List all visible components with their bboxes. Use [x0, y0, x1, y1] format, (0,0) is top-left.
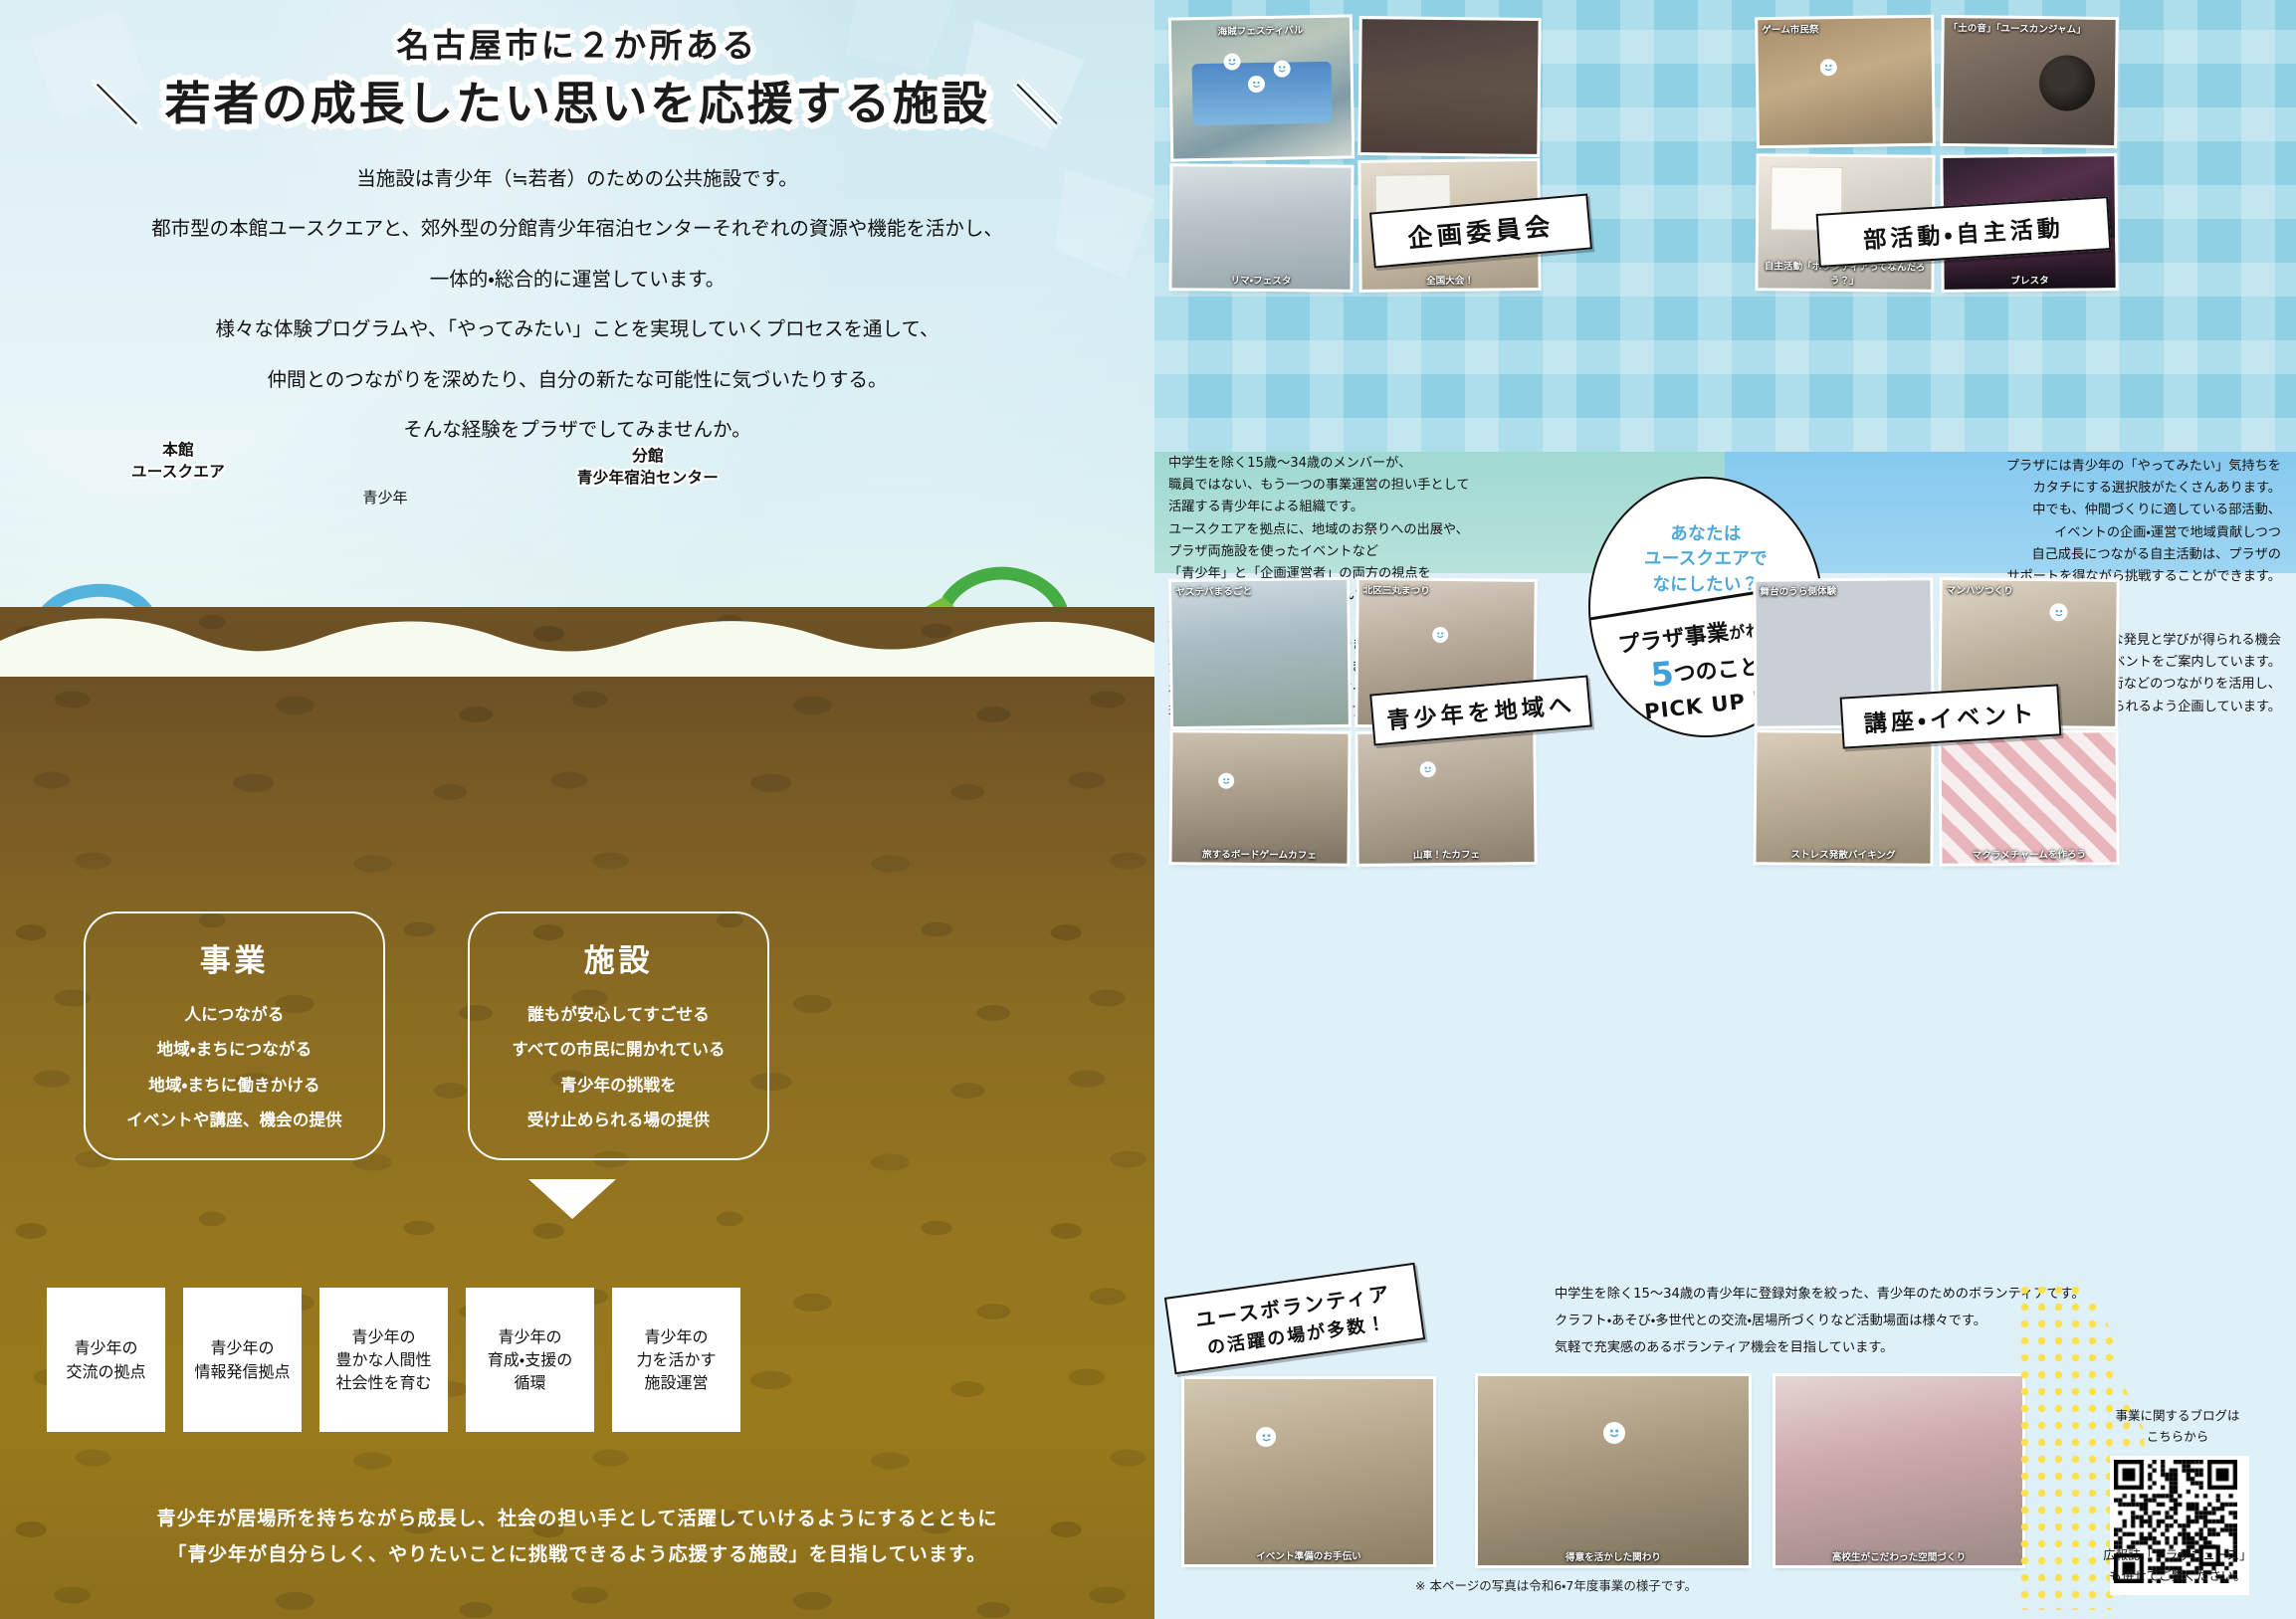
- circle-number: 5: [1649, 654, 1675, 695]
- pillar-line: 育成・支援の: [488, 1348, 572, 1371]
- intro-line-5: 仲間とのつながりを深めたり、自分の新たな可能性に気づいたりする。: [0, 368, 1154, 392]
- category-title-jigyo: 事業: [200, 935, 269, 980]
- page-title-line2-wrap: ＼ 若者の成長したい思いを応援する施設 ／: [0, 72, 1154, 135]
- pillar-line: 青少年の: [488, 1325, 572, 1348]
- photo-image: [1775, 1376, 2022, 1565]
- photo-image: [1184, 1379, 1433, 1564]
- category-box-shisetsu: 施設 誰もが安心してすごせる すべての市民に開かれている 青少年の挑戦を 受け止…: [468, 911, 769, 1160]
- tag-label: 講座・イベント: [1863, 695, 2039, 739]
- pillar-line: 循環: [488, 1371, 572, 1394]
- category-item: 人につながる: [185, 1006, 285, 1024]
- qr-label-bottom: 広報誌「プラザニュース」 も併せてご覧ください。: [2058, 1544, 2296, 1587]
- footnote: ※ 本ページの写真は令和6・7年度事業の様子です。: [1415, 1575, 1697, 1594]
- right-panel: 海賊フェスティバル ゲーム市民祭 「土の音」「ユースカンジャム」 リマ・フェスタ…: [1154, 0, 2296, 1619]
- photo-kikaku-2: [1360, 19, 1538, 154]
- qr-label-bottom-line2: も併せてご覧ください。: [2058, 1565, 2296, 1586]
- category-item: すべての市民に開かれている: [512, 1041, 725, 1059]
- photo-detail: [1360, 91, 1538, 153]
- pillar-line: 力を活かす: [636, 1348, 716, 1371]
- text-line: 職員ではない、もう一つの事業運営の担い手として: [1168, 475, 1586, 497]
- text-line: ユースクエアを拠点に、地域のお祭りへの出展や、: [1168, 519, 1586, 541]
- arrow-down-icon: [528, 1179, 616, 1219]
- text-line: 中でも、仲間づくりに適している部活動、: [1823, 500, 2281, 521]
- photo-bukatsu-1: ゲーム市民祭: [1758, 18, 1933, 145]
- smiley-mask-icon: [1274, 60, 1291, 77]
- slash-left-icon: ＼: [96, 70, 139, 133]
- qr-label-top: 事業に関するブログは こちらから: [2066, 1405, 2289, 1448]
- qr-label-bottom-line1: 広報誌「プラザニュース」: [2058, 1544, 2296, 1565]
- pillar-box-1: 青少年の 交流の拠点: [47, 1288, 165, 1432]
- qr-label-top-line1: 事業に関するブログは: [2066, 1405, 2289, 1426]
- category-item: 地域・まちにつながる: [157, 1041, 313, 1059]
- photo-volunteer-3: 高校生がこだわった空間づくり: [1775, 1376, 2022, 1565]
- text-line: イベントの企画・運営で地域貢献しつつ: [1823, 522, 2281, 544]
- category-item: 青少年の挑戦を: [560, 1077, 677, 1095]
- intro-line-1: 当施設は青少年（≒若者）のための公共施設です。: [0, 167, 1154, 191]
- intro-line-3: 一体的・総合的に運営しています。: [0, 268, 1154, 292]
- text-line: プラザには青少年の「やってみたい」気持ちを: [1823, 456, 2281, 478]
- tag-label: 青少年を地域へ: [1385, 686, 1576, 735]
- pillar-box-2: 青少年の 情報発信拠点: [183, 1288, 302, 1432]
- photo-kouza-4: マクラメチャームを作ろう: [1941, 732, 2116, 864]
- smiley-mask-icon: [1420, 761, 1436, 777]
- photo-volunteer-2: 得意を活かした関わり: [1478, 1376, 1749, 1565]
- category-box-jigyo: 事業 人につながる 地域・まちにつながる 地域・まちに働きかける イベントや講座…: [84, 911, 385, 1160]
- sprout-label: 青少年: [345, 487, 425, 507]
- photo-image: [1171, 580, 1349, 726]
- text-bukatsu: プラザには青少年の「やってみたい」気持ちを カタチにする選択肢がたくさんあります…: [1823, 456, 2281, 588]
- photo-chiiki-4: 山車！たカフェ: [1357, 732, 1534, 864]
- smiley-mask-icon: [1256, 1427, 1276, 1447]
- text-line: カタチにする選択肢がたくさんあります。: [1823, 478, 2281, 500]
- photo-image: [1758, 18, 1933, 145]
- smiley-mask-icon: [1820, 59, 1837, 76]
- photo-bukatsu-2: 「土の音」「ユースカンジャム」: [1943, 18, 2116, 145]
- pillar-box-5: 青少年の 力を活かす 施設運営: [612, 1288, 740, 1432]
- tag-label: 企画委員会: [1406, 207, 1556, 256]
- closing-line1: 青少年が居場所を持ちながら成長し、社会の担い手として活躍していけるようにするとと…: [0, 1501, 1154, 1536]
- category-title-shisetsu: 施設: [584, 935, 653, 980]
- page-title-line1: 名古屋市に２か所ある: [0, 26, 1154, 66]
- photo-image: [1357, 732, 1534, 864]
- smiley-mask-icon: [1248, 76, 1265, 93]
- category-item: 誰もが安心してすごせる: [527, 1006, 710, 1024]
- category-item: 地域・まちに働きかける: [148, 1077, 319, 1095]
- pillar-line: 青少年の: [636, 1325, 716, 1348]
- tag-label: 部活動・自主活動: [1862, 209, 2065, 255]
- category-item: イベントや講座、機会の提供: [126, 1112, 342, 1129]
- pillar-line: 青少年の: [66, 1336, 145, 1359]
- smiley-mask-icon: [1218, 773, 1234, 789]
- photo-image: [1756, 732, 1931, 864]
- can-label-branch-line1: 分館: [632, 447, 664, 465]
- intro-line-2: 都市型の本館ユースクエアと、郊外型の分館青少年宿泊センターそれぞれの資源や機能を…: [0, 217, 1154, 241]
- pillar-line: 社会性を育む: [335, 1371, 431, 1394]
- pillar-line: 豊かな人間性: [335, 1348, 431, 1371]
- brochure-page: 名古屋市に２か所ある ＼ 若者の成長したい思いを応援する施設 ／ 当施設は青少年…: [0, 0, 2296, 1619]
- slash-right-icon: ／: [1015, 70, 1059, 133]
- pillar-line: 情報発信拠点: [194, 1360, 290, 1383]
- photo-kouza-3: ストレス発散バイキング: [1756, 732, 1931, 864]
- circle-count-label: つのこと: [1673, 655, 1763, 688]
- closing-statement: 青少年が居場所を持ちながら成長し、社会の担い手として活躍していけるようにするとと…: [0, 1501, 1154, 1572]
- photo-detail: [1192, 62, 1333, 125]
- can-label-branch: 分館 青少年宿泊センター: [563, 445, 732, 490]
- smiley-mask-icon: [1223, 53, 1240, 70]
- pillar-line: 青少年の: [194, 1336, 290, 1359]
- photo-volunteer-1: イベント準備のお手伝い: [1184, 1379, 1433, 1564]
- text-line: プラザ両施設を使ったイベントなど: [1168, 541, 1586, 563]
- category-item: 受け止められる場の提供: [527, 1112, 710, 1129]
- photo-chiiki-1: ヤステバまるごと: [1171, 580, 1349, 726]
- pillar-line: 交流の拠点: [66, 1360, 145, 1383]
- photo-image: [1478, 1376, 1749, 1565]
- photo-image: [1171, 732, 1348, 864]
- can-label-main-line2: ユースクエア: [131, 463, 225, 481]
- closing-line2: 「青少年が自分らしく、やりたいことに挑戦できるよう応援する施設」を目指しています…: [0, 1536, 1154, 1572]
- intro-text: 当施設は青少年（≒若者）のための公共施設です。 都市型の本館ユースクエアと、郊外…: [0, 167, 1154, 468]
- circle-q-line2: ユースクエアで: [1590, 547, 1821, 572]
- soil-top-edge: [0, 607, 1154, 677]
- circle-q-line1: あなたは: [1590, 522, 1821, 547]
- smiley-mask-icon: [1603, 1422, 1625, 1444]
- photo-image: [1171, 166, 1351, 290]
- text-line: 自己成長につながる自主活動は、プラザの: [1823, 544, 2281, 566]
- left-panel: 名古屋市に２か所ある ＼ 若者の成長したい思いを応援する施設 ／ 当施設は青少年…: [0, 0, 1154, 1619]
- pillar-box-4: 青少年の 育成・支援の 循環: [466, 1288, 594, 1432]
- pillar-line: 青少年の: [335, 1325, 431, 1348]
- qr-label-top-line2: こちらから: [2066, 1426, 2289, 1447]
- photo-kikaku-3: リマ・フェスタ: [1171, 166, 1351, 290]
- page-title-line2: 若者の成長したい思いを応援する施設: [165, 78, 990, 130]
- text-line: 中学生を除く15歳～34歳のメンバーが、: [1168, 453, 1586, 475]
- photo-chiiki-3: 旅するボードゲームカフェ: [1171, 732, 1348, 864]
- pillar-line: 施設運営: [636, 1371, 716, 1394]
- can-label-main: 本館 ユースクエア: [104, 439, 253, 484]
- pillar-box-3: 青少年の 豊かな人間性 社会性を育む: [319, 1288, 448, 1432]
- smiley-mask-icon: [2049, 603, 2067, 621]
- can-label-branch-line2: 青少年宿泊センター: [577, 469, 719, 487]
- photo-kikaku-1: 海賊フェスティバル: [1171, 17, 1352, 158]
- can-label-main-line1: 本館: [162, 441, 194, 459]
- text-line: 活躍する青少年による組織です。: [1168, 497, 1586, 518]
- smiley-mask-icon: [1432, 627, 1448, 643]
- intro-line-4: 様々な体験プログラムや、「やってみたい」ことを実現していくプロセスを通して、: [0, 317, 1154, 341]
- photo-image: [1941, 732, 2116, 864]
